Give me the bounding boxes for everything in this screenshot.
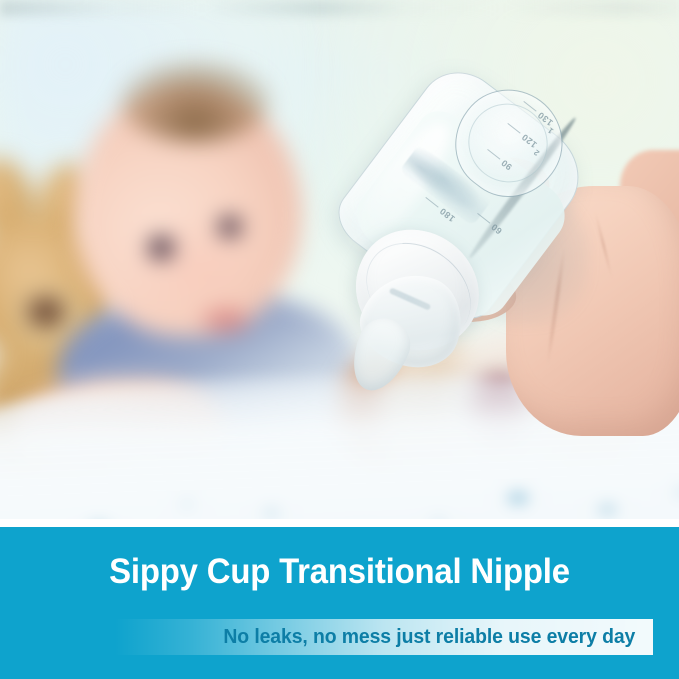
photo-band-divider bbox=[0, 519, 679, 527]
baby-cheek bbox=[120, 210, 270, 330]
product-banner-card: 130 120 90 180 60 1 2 Sippy Cup Transiti… bbox=[0, 0, 679, 679]
blanket-dot bbox=[674, 487, 679, 497]
blanket-dot bbox=[263, 508, 280, 518]
blanket-dot bbox=[507, 492, 529, 504]
sippy-cup-bottle: 130 120 90 180 60 1 2 bbox=[352, 82, 602, 372]
headline-text: Sippy Cup Transitional Nipple bbox=[20, 554, 658, 589]
blanket-dot bbox=[598, 504, 617, 515]
baby-eye-left bbox=[148, 236, 175, 260]
background-streak bbox=[0, 0, 679, 16]
baby-eye-right bbox=[218, 216, 242, 238]
baby-hair-highlight bbox=[120, 62, 270, 142]
baby-mouth bbox=[200, 308, 252, 334]
lifestyle-photo: 130 120 90 180 60 1 2 bbox=[0, 0, 679, 519]
subline-banner: No leaks, no mess just reliable use ever… bbox=[115, 619, 653, 655]
caption-band: Sippy Cup Transitional Nipple bbox=[0, 527, 679, 679]
subline-text: No leaks, no mess just reliable use ever… bbox=[123, 619, 645, 655]
blanket-dot bbox=[180, 500, 194, 508]
